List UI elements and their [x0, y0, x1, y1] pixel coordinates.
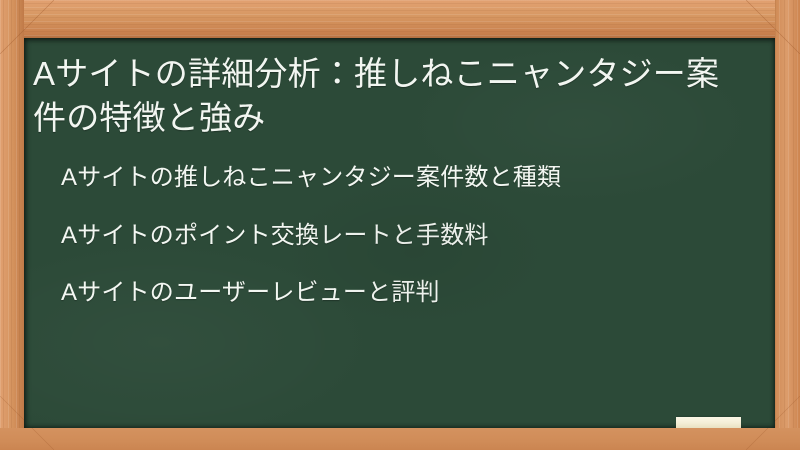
frame-plank-right — [775, 0, 800, 450]
chalkboard-content: Aサイトの詳細分析：推しねこニャンタジー案件の特徴と強み Aサイトの推しねこニャ… — [24, 38, 775, 428]
list-item: Aサイトのポイント交換レートと手数料 — [61, 222, 755, 250]
chalkboard-surface: Aサイトの詳細分析：推しねこニャンタジー案件の特徴と強み Aサイトの推しねこニャ… — [24, 38, 775, 428]
blackboard-graphic: Aサイトの詳細分析：推しねこニャンタジー案件の特徴と強み Aサイトの推しねこニャ… — [0, 0, 800, 450]
frame-plank-bottom — [0, 428, 800, 450]
topic-list: Aサイトの推しねこニャンタジー案件数と種類 Aサイトのポイント交換レートと手数料… — [33, 164, 755, 307]
list-item: Aサイトの推しねこニャンタジー案件数と種類 — [61, 164, 755, 192]
frame-plank-left — [0, 0, 24, 450]
page-title: Aサイトの詳細分析：推しねこニャンタジー案件の特徴と強み — [33, 52, 733, 140]
list-item: Aサイトのユーザーレビューと評判 — [61, 279, 755, 307]
chalk-stick-icon — [676, 417, 741, 428]
frame-plank-top — [0, 0, 800, 38]
